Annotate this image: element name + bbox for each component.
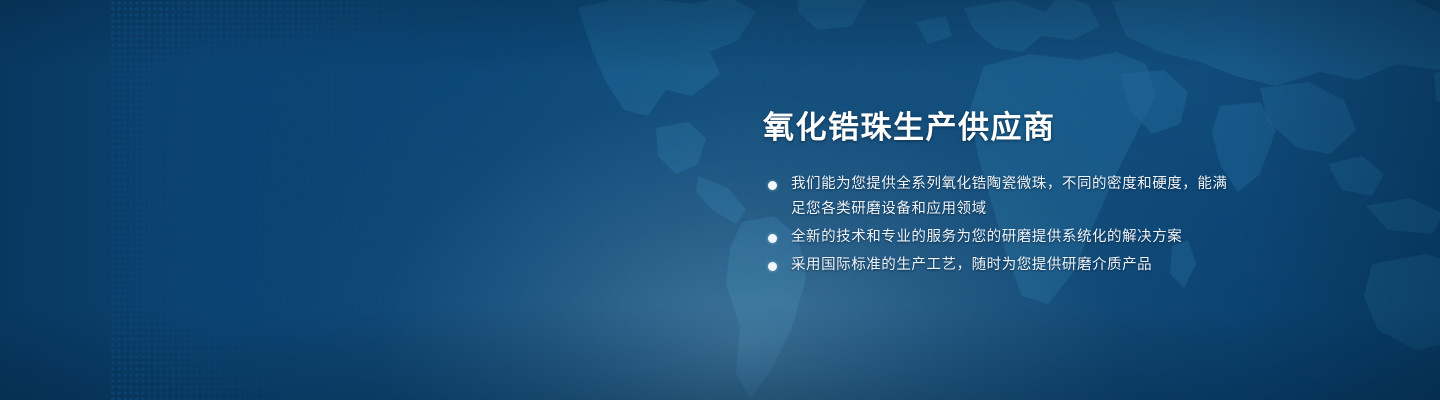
hero-banner: 氧化锆珠生产供应商 我们能为您提供全系列氧化锆陶瓷微珠，不同的密度和硬度，能满足…: [0, 0, 1440, 400]
feature-list: 我们能为您提供全系列氧化锆陶瓷微珠，不同的密度和硬度，能满足您各类研磨设备和应用…: [763, 172, 1233, 278]
list-item: 全新的技术和专业的服务为您的研磨提供系统化的解决方案: [763, 225, 1233, 250]
list-item-label: 我们能为您提供全系列氧化锆陶瓷微珠，不同的密度和硬度，能满足您各类研磨设备和应用…: [791, 172, 1233, 222]
list-item: 我们能为您提供全系列氧化锆陶瓷微珠，不同的密度和硬度，能满足您各类研磨设备和应用…: [763, 172, 1233, 222]
page-title: 氧化锆珠生产供应商: [763, 108, 1233, 148]
list-item-label: 全新的技术和专业的服务为您的研磨提供系统化的解决方案: [791, 225, 1233, 250]
bullet-dot-icon: [768, 262, 777, 271]
banner-copy: 氧化锆珠生产供应商 我们能为您提供全系列氧化锆陶瓷微珠，不同的密度和硬度，能满足…: [763, 108, 1233, 281]
bullet-dot-icon: [768, 181, 777, 190]
list-item-label: 采用国际标准的生产工艺，随时为您提供研磨介质产品: [791, 253, 1233, 278]
bullet-dot-icon: [768, 234, 777, 243]
list-item: 采用国际标准的生产工艺，随时为您提供研磨介质产品: [763, 253, 1233, 278]
